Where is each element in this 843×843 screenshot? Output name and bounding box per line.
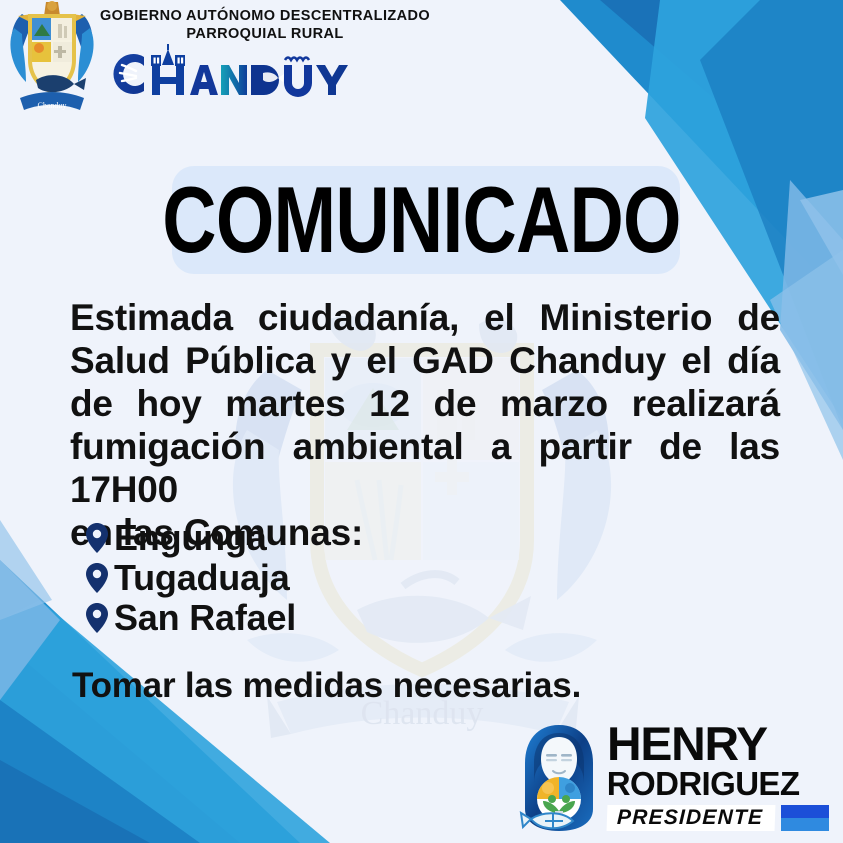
list-item: Tugaduaja: [86, 558, 296, 598]
president-role-bar: PRESIDENTE: [607, 805, 829, 831]
comuna-label: Tugaduaja: [114, 559, 290, 597]
gov-title-line-2: PARROQUIAL RURAL: [100, 26, 430, 42]
page-title: COMUNICADO: [84, 168, 758, 272]
location-pin-icon: [86, 603, 108, 633]
list-item: Engunga: [86, 518, 296, 558]
header-text-block: GOBIERNO AUTÓNOMO DESCENTRALIZADO PARROQ…: [100, 0, 430, 108]
presidente-emblem-icon: [519, 723, 599, 835]
location-pin-icon: [86, 523, 108, 553]
poster-header: Chanduy GOBIERNO AUTÓNOMO DESCENTRALIZAD…: [0, 0, 843, 125]
closing-statement: Tomar las medidas necesarias.: [72, 666, 581, 706]
flag-chip-icon: [781, 805, 829, 831]
comuna-list: Engunga Tugaduaja San Rafael: [86, 518, 296, 638]
president-last-name: RODRIGUEZ: [607, 767, 829, 800]
president-name-block: HENRY RODRIGUEZ PRESIDENTE: [607, 723, 829, 835]
chanduy-crest-icon: Chanduy: [6, 0, 98, 118]
announcement-paragraph: Estimada ciudadanía, el Ministerio de Sa…: [70, 297, 780, 510]
president-role-label: PRESIDENTE: [606, 805, 775, 831]
comuna-label: Engunga: [114, 519, 267, 557]
gov-title-line-1: GOBIERNO AUTÓNOMO DESCENTRALIZADO: [100, 8, 430, 24]
list-item: San Rafael: [86, 598, 296, 638]
president-first-name: HENRY: [607, 723, 834, 765]
president-signature-block: HENRY RODRIGUEZ PRESIDENTE: [519, 723, 829, 835]
comuna-label: San Rafael: [114, 599, 296, 637]
location-pin-icon: [86, 563, 108, 593]
poster-canvas: Chanduy: [0, 0, 843, 843]
chanduy-wordmark-logo: [100, 43, 400, 103]
announcement-body: Estimada ciudadanía, el Ministerio de Sa…: [70, 296, 780, 554]
flag-stripe-top: [781, 805, 829, 818]
flag-stripe-bottom: [781, 818, 829, 831]
svg-text:Chanduy: Chanduy: [38, 101, 67, 110]
